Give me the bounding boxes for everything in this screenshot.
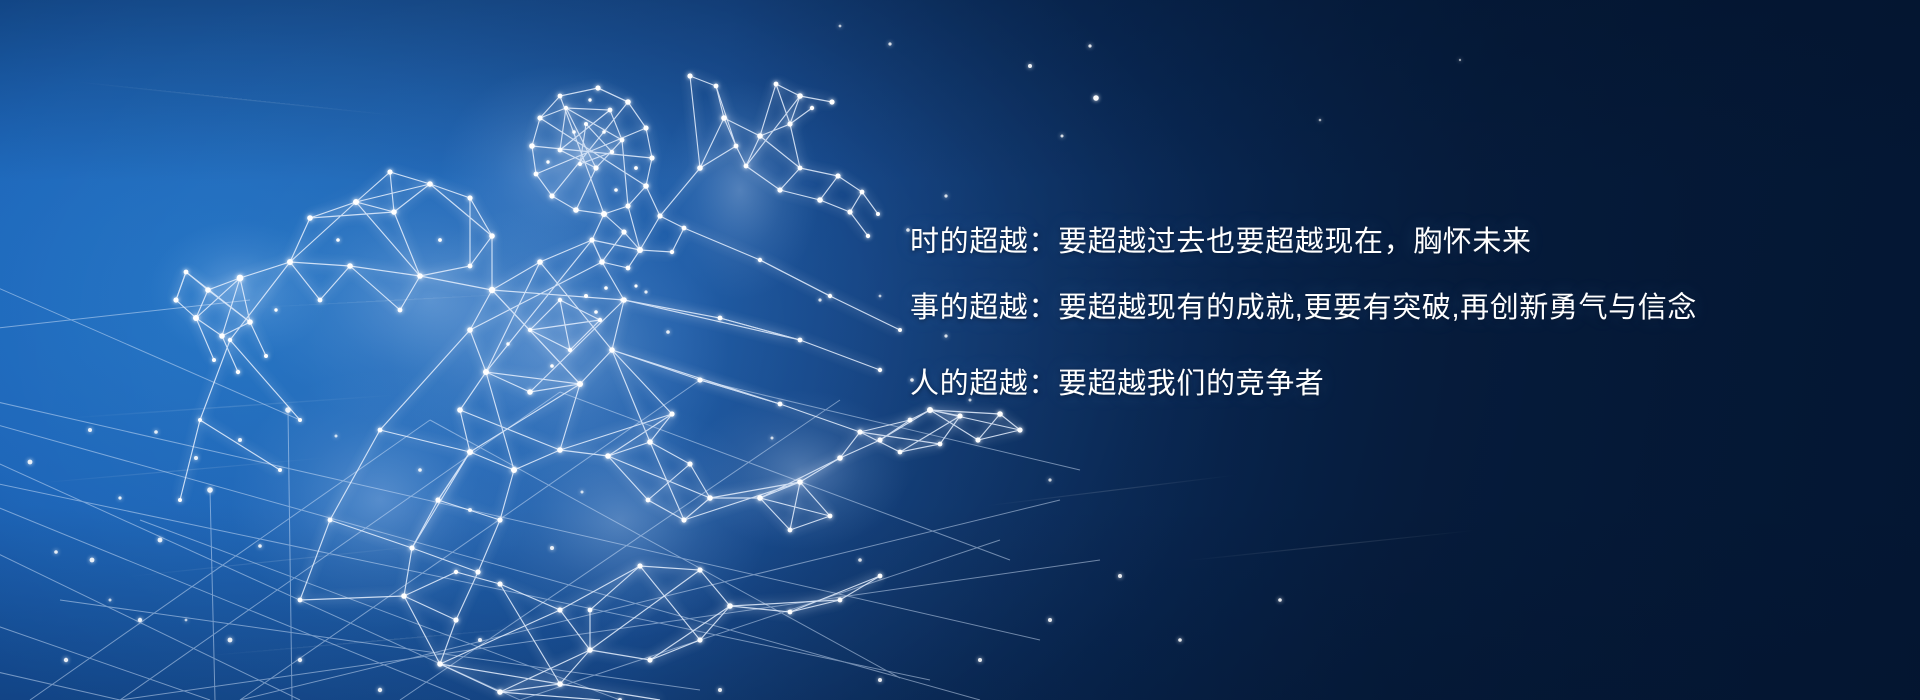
tagline-line-1: 时的超越：要超越过去也要超越现在，胸怀未来 [910,228,1790,257]
tagline-line-3: 人的超越：要超越我们的竞争者 [910,370,1790,399]
banner-stage: 时的超越：要超越过去也要超越现在，胸怀未来 事的超越：要超越现有的成就,更要有突… [0,0,1920,700]
tagline-block: 时的超越：要超越过去也要超越现在，胸怀未来 事的超越：要超越现有的成就,更要有突… [910,228,1790,399]
tagline-line-2: 事的超越：要超越现有的成就,更要有突破,再创新勇气与信念 [910,294,1790,323]
